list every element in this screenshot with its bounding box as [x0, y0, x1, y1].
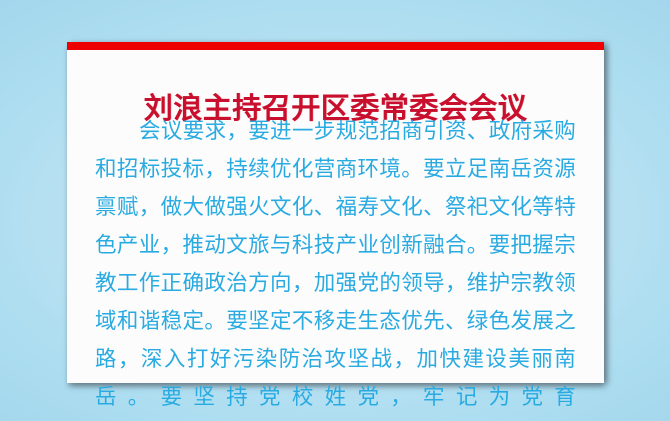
red-divider-rule	[67, 42, 604, 50]
caption-card: 刘浪主持召开区委常委会会议 会议要求，要进一步规范招商引资、政府采购和招标投标，…	[67, 42, 604, 383]
caption-body-text: 会议要求，要进一步规范招商引资、政府采购和招标投标，持续优化营商环境。要立足南岳…	[95, 113, 576, 421]
video-frame: 刘浪主持召开区委常委会会议 会议要求，要进一步规范招商引资、政府采购和招标投标，…	[0, 0, 670, 421]
